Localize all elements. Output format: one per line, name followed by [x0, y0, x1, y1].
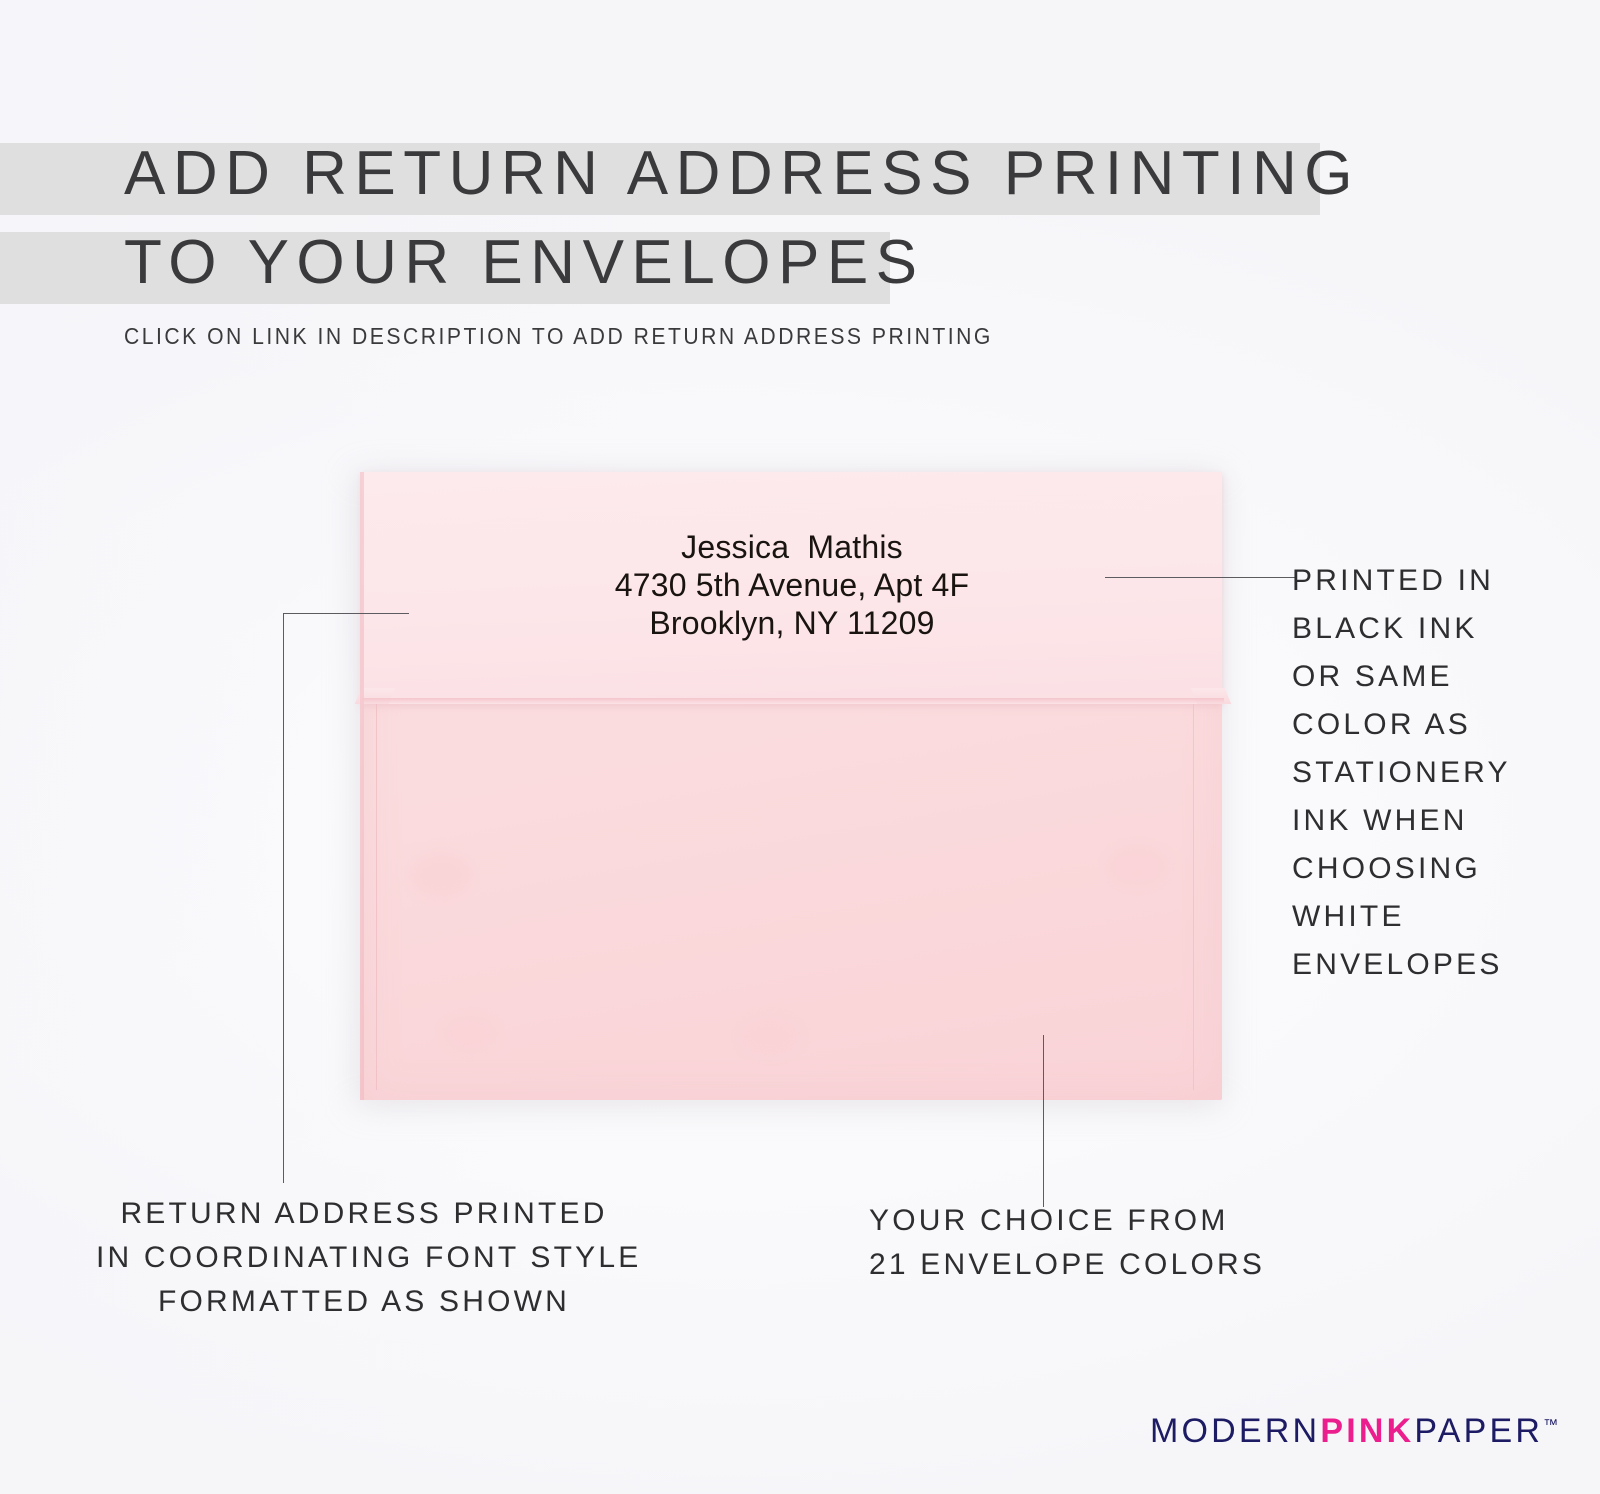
brand-logo: MODERNPINKPAPER™: [1150, 1412, 1558, 1451]
envelope-seam-right: [1193, 700, 1194, 1090]
leader-line-left-vertical: [283, 613, 284, 1183]
annotation-line: INK WHEN: [1292, 797, 1511, 845]
logo-paper: PAPER: [1414, 1412, 1543, 1450]
leader-line-right: [1105, 577, 1295, 578]
envelope-texture: [740, 1016, 800, 1056]
page-title-line-1: ADD RETURN ADDRESS PRINTING: [124, 143, 1360, 205]
logo-modern: MODERN: [1150, 1412, 1320, 1450]
envelope-texture: [410, 852, 472, 898]
trademark-icon: ™: [1543, 1417, 1558, 1434]
envelope-texture: [1108, 846, 1166, 886]
annotation-line: 21 ENVELOPE COLORS: [869, 1243, 1265, 1287]
annotation-line: COLOR AS: [1292, 701, 1511, 749]
annotation-line: STATIONERY: [1292, 749, 1511, 797]
logo-pink: PINK: [1320, 1412, 1414, 1450]
annotation-line: WHITE: [1292, 893, 1511, 941]
leader-line-center-vertical: [1043, 1035, 1044, 1207]
annotation-line: CHOOSING: [1292, 845, 1511, 893]
annotation-line: BLACK INK: [1292, 605, 1511, 653]
envelope-image: Jessica Mathis 4730 5th Avenue, Apt 4F B…: [348, 460, 1228, 1105]
return-address-line-2: 4730 5th Avenue, Apt 4F: [362, 566, 1222, 604]
annotation-line: ENVELOPES: [1292, 941, 1511, 989]
annotation-line: YOUR CHOICE FROM: [869, 1199, 1265, 1243]
return-address-block: Jessica Mathis 4730 5th Avenue, Apt 4F B…: [362, 528, 1222, 642]
annotation-line: IN COORDINATING FONT STYLE: [96, 1236, 632, 1280]
annotation-line: RETURN ADDRESS PRINTED: [96, 1192, 632, 1236]
annotation-envelope-colors: YOUR CHOICE FROM 21 ENVELOPE COLORS: [869, 1199, 1265, 1287]
page-title-line-2: TO YOUR ENVELOPES: [124, 232, 925, 294]
annotation-return-address-style: RETURN ADDRESS PRINTED IN COORDINATING F…: [96, 1192, 632, 1324]
leader-line-left-horizontal: [283, 613, 409, 614]
annotation-line: FORMATTED AS SHOWN: [96, 1280, 632, 1324]
annotation-printed-ink: PRINTED IN BLACK INK OR SAME COLOR AS ST…: [1292, 557, 1511, 989]
annotation-line: OR SAME: [1292, 653, 1511, 701]
return-address-line-1: Jessica Mathis: [362, 528, 1222, 566]
envelope-seam-left: [376, 700, 377, 1090]
envelope-texture: [444, 1016, 496, 1050]
page-subtitle: CLICK ON LINK IN DESCRIPTION TO ADD RETU…: [124, 323, 993, 350]
annotation-line: PRINTED IN: [1292, 557, 1511, 605]
envelope-flap-edge: [362, 698, 1224, 703]
return-address-line-3: Brooklyn, NY 11209: [362, 604, 1222, 642]
